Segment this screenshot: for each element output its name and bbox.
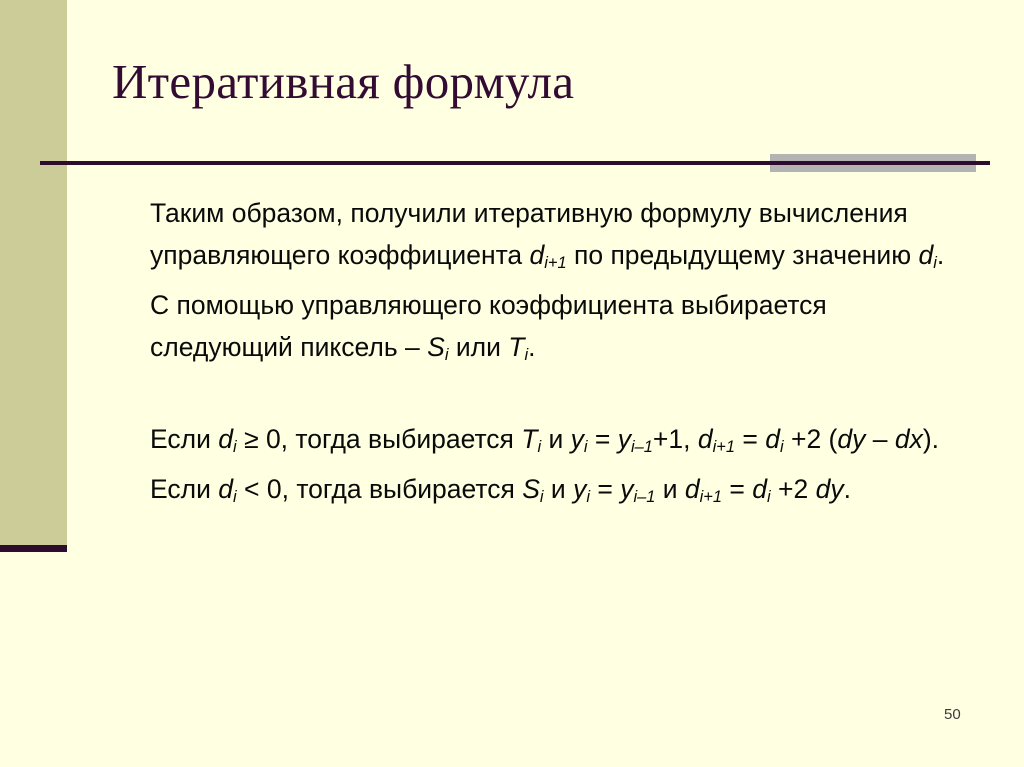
p1-var-s: S bbox=[427, 332, 445, 362]
p2-t14: = bbox=[722, 474, 752, 504]
p2-t13: и bbox=[655, 474, 685, 504]
p1-text-4: или bbox=[448, 332, 508, 362]
p2-var-y-a: y bbox=[571, 424, 584, 454]
paragraph-1: Таким образом, получили итеративную форм… bbox=[150, 192, 950, 376]
p2-t10: < 0, тогда выбирается bbox=[237, 474, 523, 504]
p2-var-y-c: y bbox=[573, 474, 586, 504]
p2-t8: – bbox=[865, 424, 894, 454]
p1-text-5: . bbox=[528, 332, 535, 362]
p2-t2: ≥ 0, тогда выбирается bbox=[237, 424, 522, 454]
p2-var-d-f: d bbox=[752, 474, 767, 504]
p2-t5: +1, bbox=[653, 424, 698, 454]
p2-var-y-b-sub: i–1 bbox=[631, 438, 653, 456]
p2-var-d-a: d bbox=[218, 424, 233, 454]
left-decorative-band bbox=[0, 0, 67, 545]
p2-var-t: T bbox=[521, 424, 537, 454]
p2-var-dx: dx bbox=[895, 424, 923, 454]
p2-t16: . bbox=[844, 474, 851, 504]
p1-var-d2: d bbox=[918, 240, 933, 270]
paragraph-2: Если di ≥ 0, тогда выбирается Ti и yi = … bbox=[150, 418, 950, 518]
p2-var-d-e-sub: i+1 bbox=[700, 488, 722, 506]
p1-var-d1-sub: i+1 bbox=[544, 254, 566, 272]
p2-t7: +2 ( bbox=[784, 424, 838, 454]
slide: Итеративная формула Таким образом, получ… bbox=[0, 0, 1024, 767]
p1-text-2: по предыдущему значению bbox=[567, 240, 919, 270]
p2-t12: = bbox=[590, 474, 620, 504]
p2-t4: = bbox=[588, 424, 618, 454]
p2-var-dy-a: dy bbox=[837, 424, 865, 454]
p2-var-y-b: y bbox=[618, 424, 631, 454]
p2-var-d-b-sub: i+1 bbox=[713, 438, 735, 456]
p1-var-t: T bbox=[508, 332, 524, 362]
p2-t15: +2 bbox=[771, 474, 816, 504]
p2-var-s: S bbox=[522, 474, 540, 504]
p2-var-d-d: d bbox=[218, 474, 233, 504]
page-title: Итеративная формула bbox=[112, 56, 972, 109]
slide-body: Таким образом, получили итеративную форм… bbox=[150, 192, 950, 518]
title-underline-rule bbox=[40, 161, 990, 165]
p1-var-d1: d bbox=[530, 240, 545, 270]
p2-var-d-e: d bbox=[685, 474, 700, 504]
p2-var-y-d-sub: i–1 bbox=[633, 488, 655, 506]
p2-var-d-c: d bbox=[765, 424, 780, 454]
page-number: 50 bbox=[944, 706, 961, 723]
p2-var-d-b: d bbox=[698, 424, 713, 454]
p2-t6: = bbox=[735, 424, 765, 454]
p2-t3: и bbox=[541, 424, 571, 454]
p2-t1: Если bbox=[150, 424, 218, 454]
p2-t11: и bbox=[544, 474, 574, 504]
p2-var-dy-b: dy bbox=[816, 474, 844, 504]
left-band-bottom-rule bbox=[0, 545, 67, 552]
p2-var-y-d: y bbox=[620, 474, 633, 504]
